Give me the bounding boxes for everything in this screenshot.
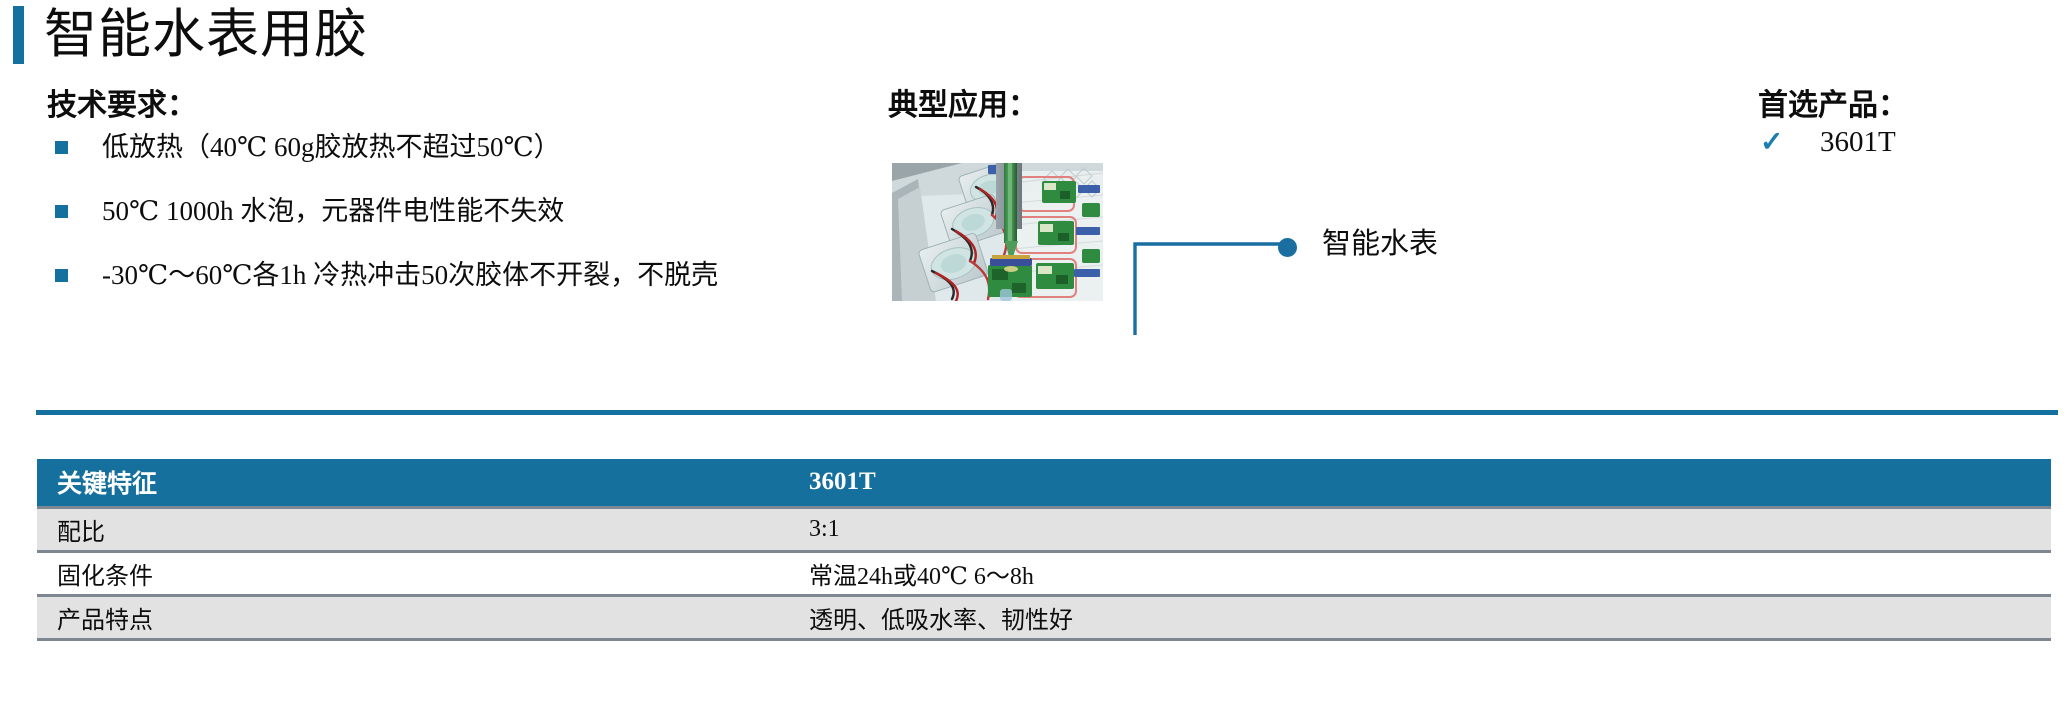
requirements-list: 低放热（40℃ 60g胶放热不超过50℃） 50℃ 1000h 水泡，元器件电性… bbox=[55, 125, 755, 317]
page-title: 智能水表用胶 bbox=[44, 9, 368, 62]
table-row: 固化条件 常温24h或40℃ 6～8h bbox=[37, 551, 2051, 595]
product-name: 3601T bbox=[1820, 126, 1896, 159]
requirements-heading: 技术要求： bbox=[47, 80, 197, 124]
table-header-row: 关键特征 3601T bbox=[37, 459, 2051, 507]
list-item: 50℃ 1000h 水泡，元器件电性能不失效 bbox=[55, 189, 755, 234]
table-cell-value: 3:1 bbox=[789, 507, 2051, 551]
requirement-text: -30℃～60℃各1h 冷热冲击50次胶体不开裂，不脱壳 bbox=[102, 261, 718, 291]
square-bullet-icon bbox=[55, 205, 68, 218]
table-cell-value: 常温24h或40℃ 6～8h bbox=[789, 551, 2051, 595]
callout-dot-icon bbox=[1278, 238, 1297, 257]
table-cell-feature: 固化条件 bbox=[37, 551, 789, 595]
check-icon: ✓ bbox=[1760, 129, 1786, 157]
callout-connector bbox=[1095, 235, 1535, 345]
list-item: ✓ 3601T bbox=[1760, 126, 1896, 159]
spec-table: 关键特征 3601T 配比 3:1 固化条件 常温24h或40℃ 6～8h 产品… bbox=[37, 459, 2051, 641]
table-cell-value: 透明、低吸水率、韧性好 bbox=[789, 595, 2051, 639]
table-header-cell-feature: 关键特征 bbox=[37, 459, 789, 507]
section-divider bbox=[36, 410, 2058, 415]
list-item: -30℃～60℃各1h 冷热冲击50次胶体不开裂，不脱壳 bbox=[55, 253, 755, 298]
square-bullet-icon bbox=[55, 141, 68, 154]
preferred-product-heading: 首选产品： bbox=[1758, 80, 1908, 124]
page-title-block: 智能水表用胶 bbox=[13, 6, 368, 64]
table-cell-feature: 配比 bbox=[37, 507, 789, 551]
application-heading: 典型应用： bbox=[888, 80, 1038, 124]
preferred-product-list: ✓ 3601T bbox=[1760, 126, 1896, 159]
table-row: 配比 3:1 bbox=[37, 507, 2051, 551]
requirement-text: 低放热（40℃ 60g胶放热不超过50℃） bbox=[102, 133, 561, 163]
requirement-text: 50℃ 1000h 水泡，元器件电性能不失效 bbox=[102, 197, 564, 227]
table-header-cell-product: 3601T bbox=[789, 459, 2051, 507]
application-photo bbox=[892, 163, 1103, 301]
square-bullet-icon bbox=[55, 269, 68, 282]
application-photo-image bbox=[892, 163, 1103, 301]
list-item: 低放热（40℃ 60g胶放热不超过50℃） bbox=[55, 125, 755, 170]
table-row: 产品特点 透明、低吸水率、韧性好 bbox=[37, 595, 2051, 639]
title-accent-bar bbox=[13, 6, 24, 64]
callout-label: 智能水表 bbox=[1322, 220, 1438, 262]
table-cell-feature: 产品特点 bbox=[37, 595, 789, 639]
